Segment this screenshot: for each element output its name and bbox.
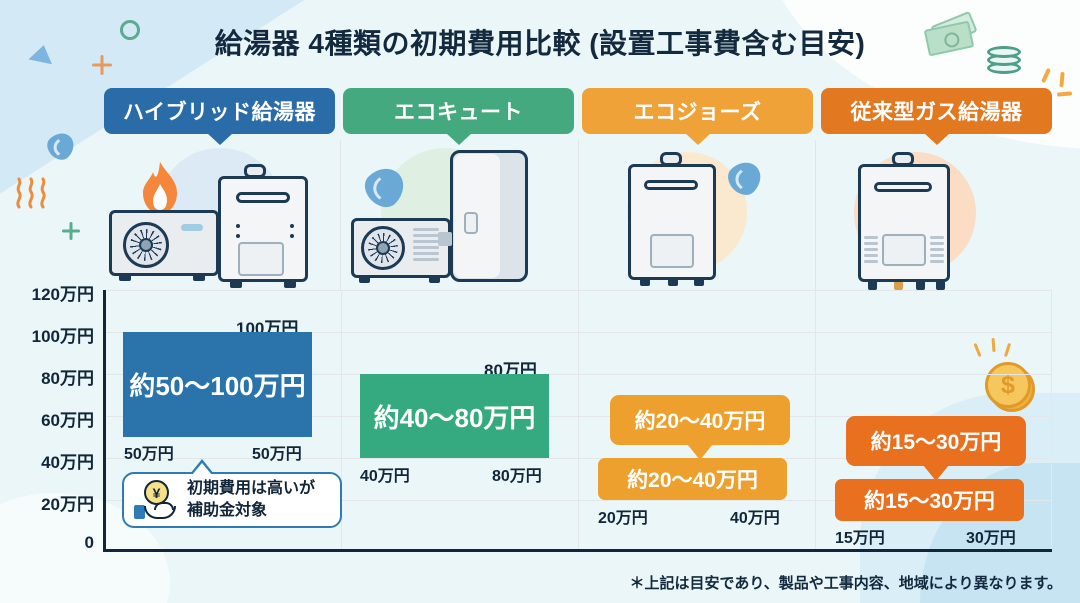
bar-ecojaws-value-label: 約20〜40万円 xyxy=(627,464,758,494)
column-divider-4 xyxy=(1051,290,1052,552)
hot-water-tank-unit xyxy=(446,150,536,282)
gas-water-heater-unit xyxy=(214,164,312,282)
ecojaws-illustration xyxy=(578,140,815,290)
y-tick-60: 60万円 xyxy=(2,406,94,431)
bar-ecojaws-bottom-right-label: 40万円 xyxy=(730,504,780,528)
column-divider-2 xyxy=(578,290,579,552)
illustration-row xyxy=(104,140,1052,290)
flame-icon xyxy=(139,160,181,216)
infographic-canvas: 給湯器 4種類の初期費用比較 (設置工事費含む目安) ハイブリッド給湯器 エコキ… xyxy=(0,0,1080,603)
heat-pump-unit xyxy=(109,210,219,280)
bar-hybrid-value-label: 約50〜100万円 xyxy=(129,366,305,403)
category-header-hybrid-label: ハイブリッド給湯器 xyxy=(123,96,316,126)
bar-hybrid[interactable]: 約50〜100万円 xyxy=(123,332,312,437)
bar-ecojaws-callout[interactable]: 約20〜40万円 xyxy=(610,395,790,445)
bar-conventional-callout[interactable]: 約15〜30万円 xyxy=(846,416,1026,466)
bar-chart: 120万円 100万円 80万円 60万円 40万円 20万円 0 100万円 … xyxy=(104,290,1052,552)
bar-conventional-bottom-left-label: 15万円 xyxy=(835,524,885,548)
note-tail-fill xyxy=(192,463,212,475)
footer-note: ＊上記は目安であり、製品や工事内容、地域により異なります。 xyxy=(630,572,1062,593)
subsidy-note-callout: ¥ 初期費用は高いが 補助金対象 xyxy=(122,472,342,528)
bar-conventional-value-label: 約15〜30万円 xyxy=(864,485,995,515)
bar-ecocute[interactable]: 約40〜80万円 xyxy=(360,374,549,458)
category-header-row: ハイブリッド給湯器 エコキュート エコジョーズ 従来型ガス給湯器 xyxy=(104,88,1052,134)
column-divider-3 xyxy=(815,290,816,552)
bar-conventional[interactable]: 約15〜30万円 xyxy=(835,479,1024,521)
gas-water-heater-unit-2 xyxy=(624,152,724,282)
bar-ecojaws-bottom-left-label: 20万円 xyxy=(598,504,648,528)
x-axis xyxy=(103,549,1052,552)
bar-conventional-callout-label: 約15〜30万円 xyxy=(871,426,1002,456)
category-header-ecocute-label: エコキュート xyxy=(394,96,523,126)
category-header-conventional[interactable]: 従来型ガス給湯器 xyxy=(821,88,1052,134)
bar-conventional-bottom-right-label: 30万円 xyxy=(966,524,1016,548)
gas-water-heater-unit-3 xyxy=(854,152,958,284)
y-tick-80: 80万円 xyxy=(2,364,94,389)
y-tick-40: 40万円 xyxy=(2,448,94,473)
steam-decoration-icon xyxy=(12,176,52,210)
bar-hybrid-bottom-left-label: 50万円 xyxy=(124,440,174,464)
category-header-ecocute[interactable]: エコキュート xyxy=(343,88,574,134)
y-axis xyxy=(103,290,106,552)
bar-ecocute-bottom-right-label: 80万円 xyxy=(492,462,542,486)
bar-ecocute-value-label: 約40〜80万円 xyxy=(374,398,536,435)
y-tick-120: 120万円 xyxy=(2,280,94,305)
hybrid-illustration xyxy=(104,140,340,290)
y-tick-20: 20万円 xyxy=(2,490,94,515)
category-header-conventional-label: 従来型ガス給湯器 xyxy=(851,96,1023,126)
conventional-illustration xyxy=(815,140,1052,290)
bar-ecojaws[interactable]: 約20〜40万円 xyxy=(598,458,787,500)
heat-pump-unit-2 xyxy=(351,218,451,282)
y-tick-100: 100万円 xyxy=(2,322,94,347)
ecocute-illustration xyxy=(340,140,577,290)
page-title: 給湯器 4種類の初期費用比較 (設置工事費含む目安) xyxy=(0,22,1080,62)
bar-ecocute-bottom-left-label: 40万円 xyxy=(360,462,410,486)
yen-hand-icon: ¥ xyxy=(134,480,178,520)
y-tick-0: 0 xyxy=(2,533,94,553)
plus-decoration-icon-2 xyxy=(62,222,80,240)
category-header-hybrid[interactable]: ハイブリッド給湯器 xyxy=(104,88,335,134)
subsidy-note-text: 初期費用は高いが 補助金対象 xyxy=(187,478,315,521)
category-header-ecojaws-label: エコジョーズ xyxy=(634,96,762,126)
subsidy-note-line2: 補助金対象 xyxy=(187,502,267,519)
bar-ecojaws-callout-label: 約20〜40万円 xyxy=(635,405,766,435)
bar-hybrid-bottom-right-label: 50万円 xyxy=(252,440,302,464)
category-header-ecojaws[interactable]: エコジョーズ xyxy=(582,88,813,134)
subsidy-note-line1: 初期費用は高いが xyxy=(187,480,315,497)
